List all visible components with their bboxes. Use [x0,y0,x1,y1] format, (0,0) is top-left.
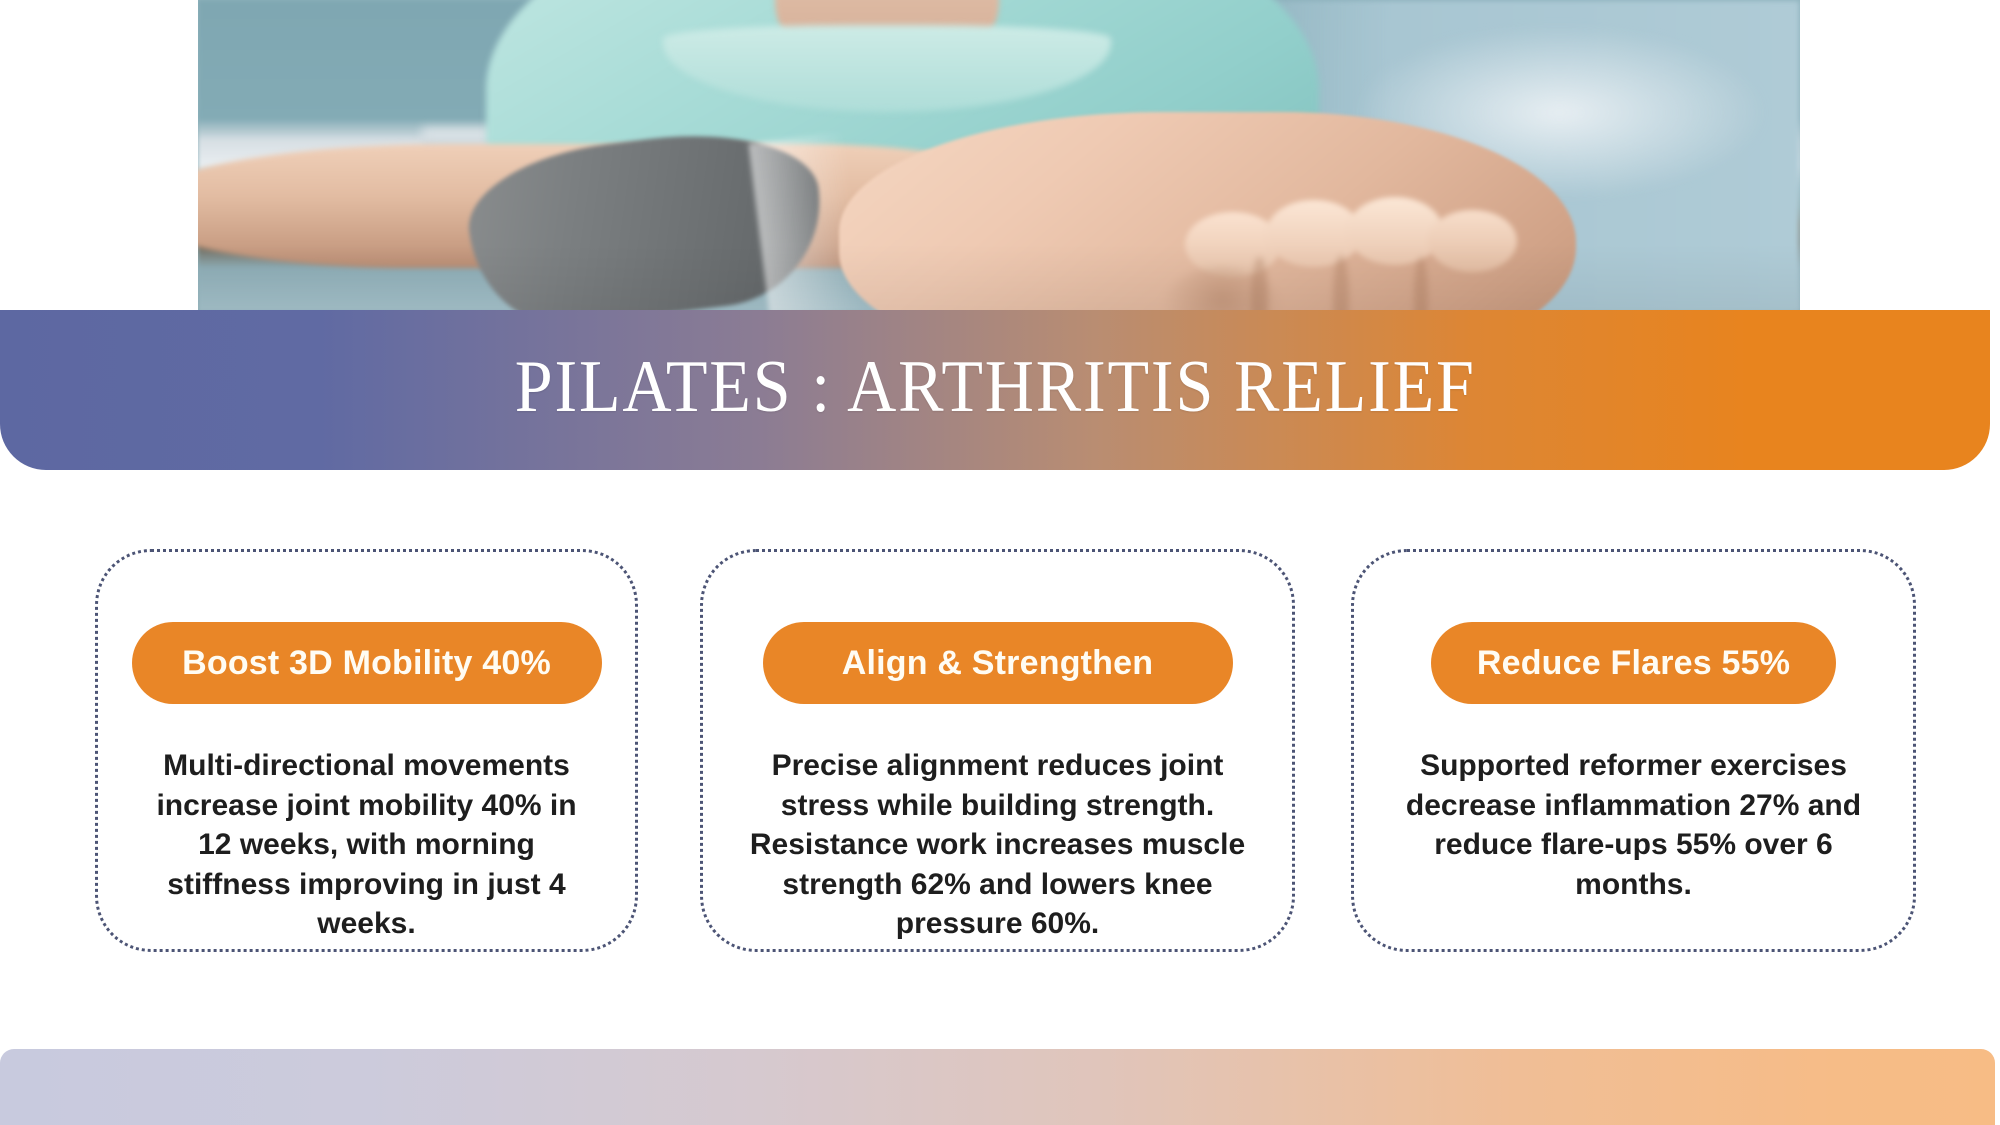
card-pill-label[interactable]: Boost 3D Mobility 40% [132,622,602,704]
cards-row: Boost 3D Mobility 40% Multi-directional … [0,549,2000,959]
feature-card[interactable]: Reduce Flares 55% Supported reformer exe… [1351,549,1916,952]
feature-card[interactable]: Boost 3D Mobility 40% Multi-directional … [95,549,638,952]
page-title: PILATES : ARTHRITIS RELIEF [515,350,1476,430]
card-body-text: Precise alignment reduces joint stress w… [703,746,1292,944]
card-pill-label[interactable]: Reduce Flares 55% [1431,622,1836,704]
title-banner: PILATES : ARTHRITIS RELIEF [0,310,1990,470]
card-body-text: Supported reformer exercises decrease in… [1354,746,1913,904]
card-pill-label[interactable]: Align & Strengthen [763,622,1233,704]
footer-banner [0,1049,1995,1125]
photo-vignette [198,0,1800,312]
feature-card[interactable]: Align & Strengthen Precise alignment red… [700,549,1295,952]
card-body-text: Multi-directional movements increase joi… [98,746,635,944]
hero-photo [198,0,1800,312]
